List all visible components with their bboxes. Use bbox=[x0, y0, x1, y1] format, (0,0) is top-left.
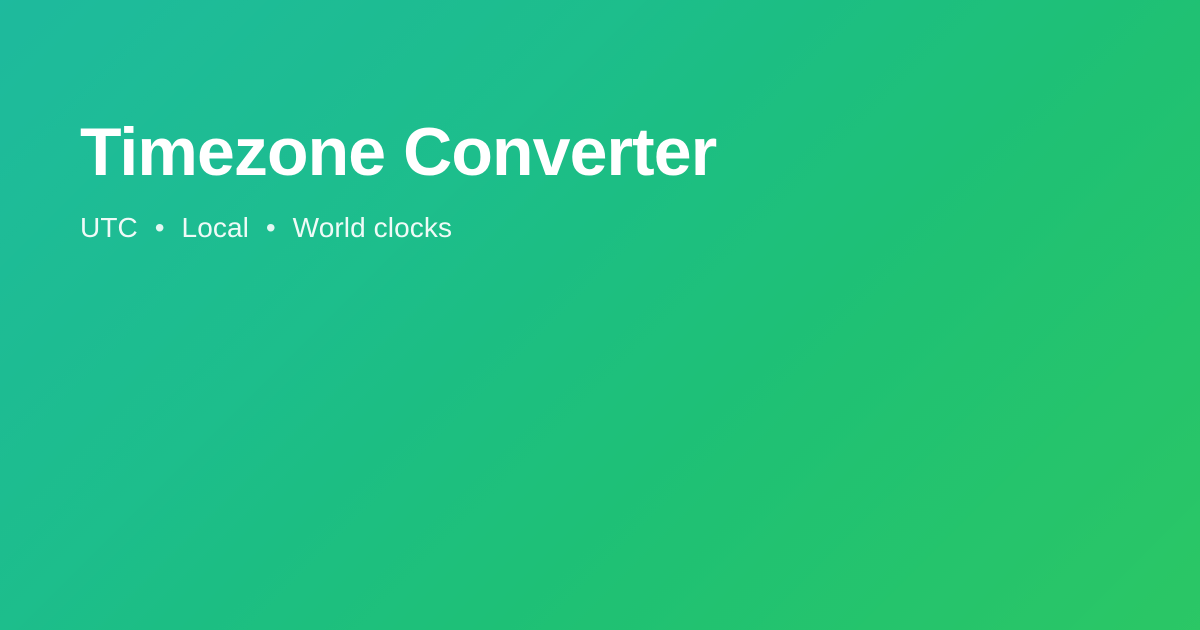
subtitle-part-utc: UTC bbox=[80, 212, 138, 243]
subtitle-part-world-clocks: World clocks bbox=[293, 212, 452, 243]
og-card: Timezone Converter UTC • Local • World c… bbox=[0, 0, 1200, 630]
bullet-separator-icon: • bbox=[146, 214, 174, 242]
page-title: Timezone Converter bbox=[80, 118, 1120, 186]
card-text-block: Timezone Converter UTC • Local • World c… bbox=[80, 118, 1120, 242]
subtitle-part-local: Local bbox=[182, 212, 249, 243]
bullet-separator-icon: • bbox=[257, 214, 285, 242]
page-subtitle: UTC • Local • World clocks bbox=[80, 186, 1120, 242]
